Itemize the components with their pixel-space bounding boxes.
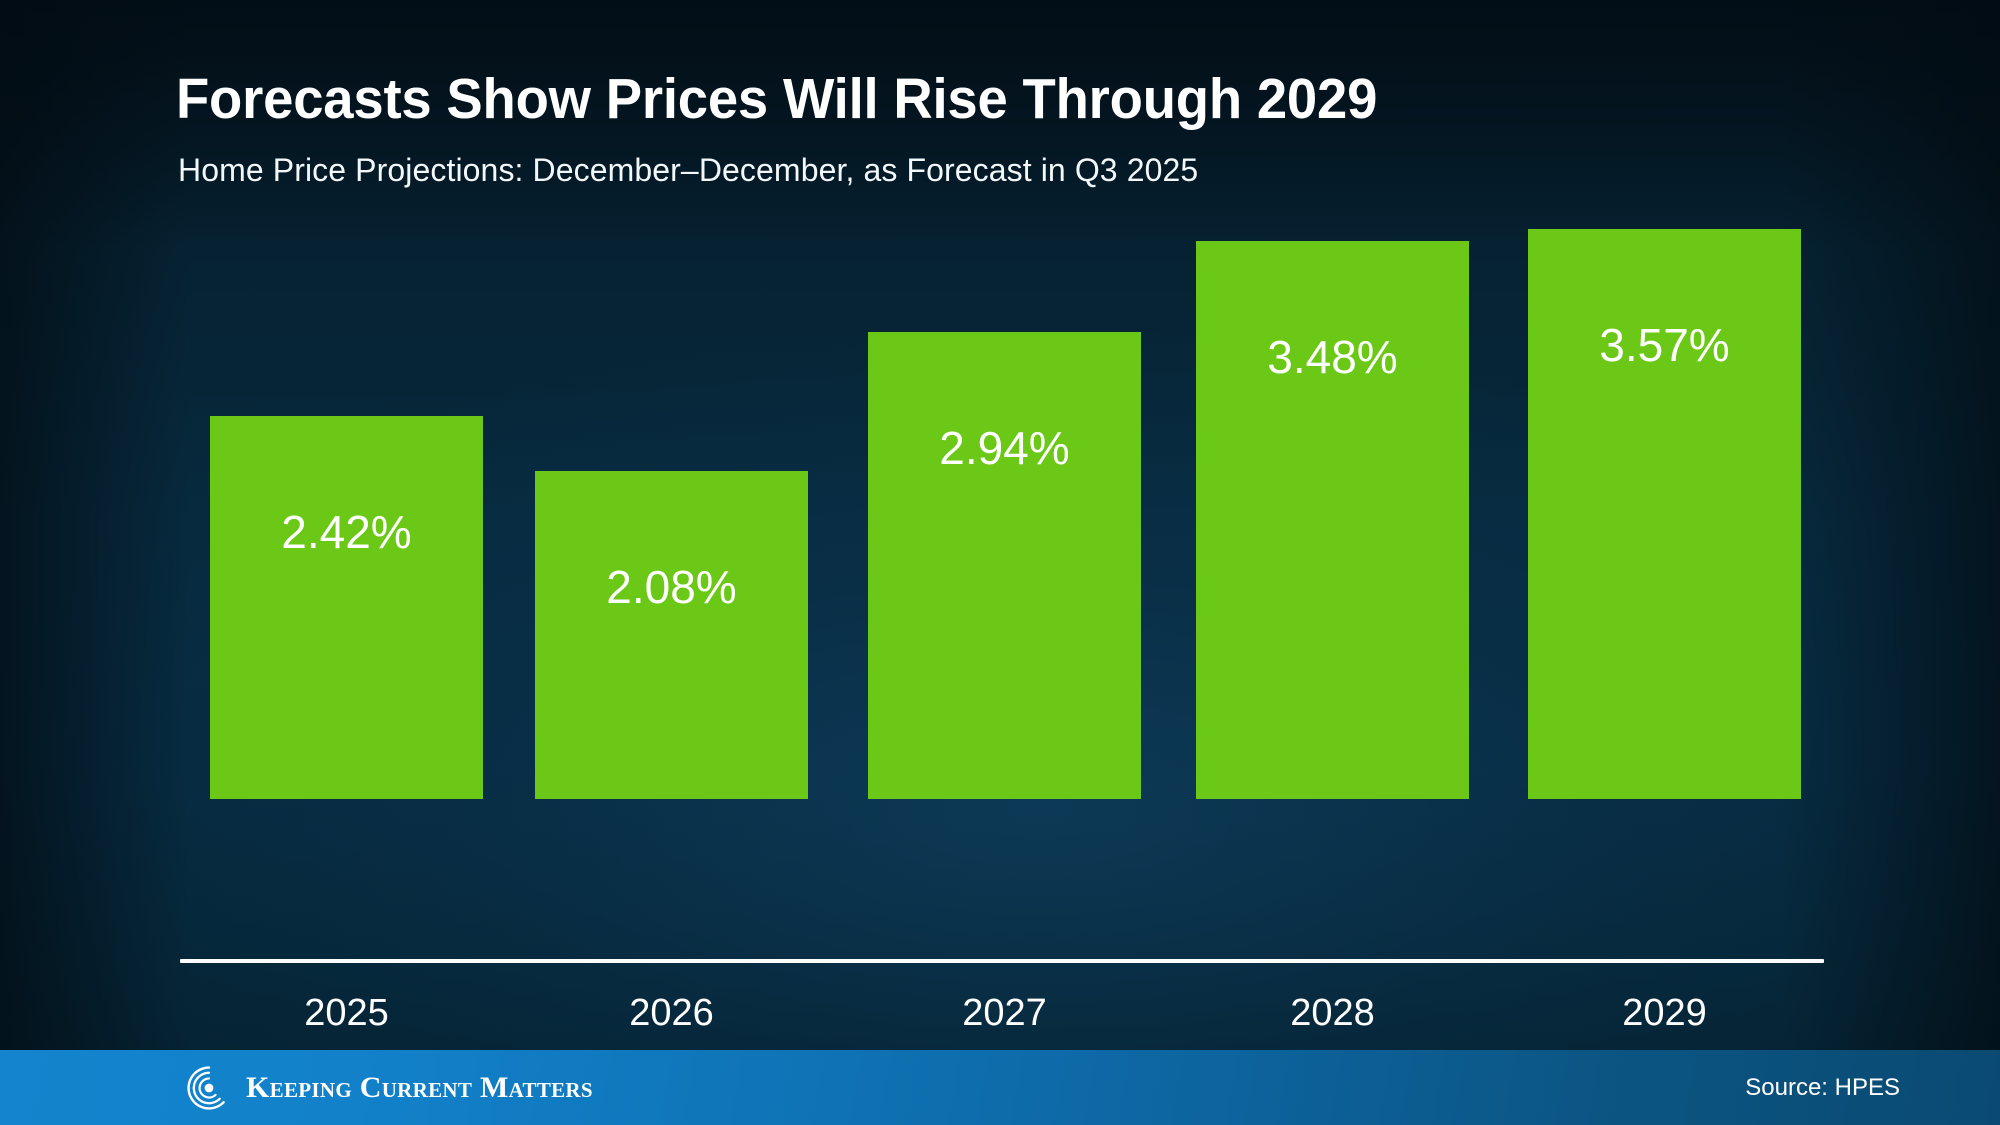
category-label-2025: 2025 <box>210 992 483 1035</box>
bar-value-2025: 2.42% <box>210 505 483 559</box>
bar-value-2028: 3.48% <box>1196 330 1469 384</box>
source-credit: Source: HPES <box>1745 1074 1900 1102</box>
category-label-2026: 2026 <box>535 992 808 1035</box>
brand-lockup[interactable]: Keeping Current Matters <box>186 1065 593 1111</box>
bar-2025 <box>210 416 483 799</box>
brand-name: Keeping Current Matters <box>246 1071 593 1105</box>
bar-2026 <box>535 471 808 799</box>
bar-value-2026: 2.08% <box>535 560 808 614</box>
x-axis-line <box>180 959 1824 963</box>
infographic-canvas: Forecasts Show Prices Will Rise Through … <box>0 0 2000 1125</box>
bar-2028 <box>1196 241 1469 799</box>
category-label-2029: 2029 <box>1528 992 1801 1035</box>
bar-2027 <box>868 332 1141 799</box>
category-label-2027: 2027 <box>868 992 1141 1035</box>
category-label-2028: 2028 <box>1196 992 1469 1035</box>
bar-2029 <box>1528 229 1801 799</box>
bar-value-2029: 3.57% <box>1528 318 1801 372</box>
footer-bar: Keeping Current Matters Source: HPES <box>0 1050 2000 1125</box>
bar-chart: 2.42%2.08%2.94%3.48%3.57% <box>0 0 2000 962</box>
spiral-circle-logo-icon <box>186 1065 232 1111</box>
bar-value-2027: 2.94% <box>868 421 1141 475</box>
